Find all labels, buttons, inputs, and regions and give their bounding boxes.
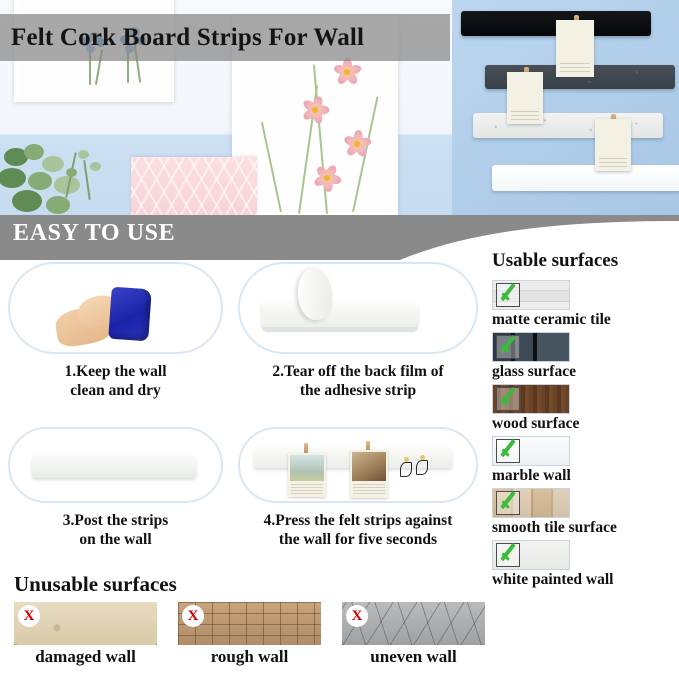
check-icon [496,335,520,359]
unusable-item-uneven-wall: X uneven wall [342,602,485,667]
swatch-white-painted-wall [492,540,570,570]
step-2-illustration [238,262,478,354]
usable-label-4: smooth tile surface [492,519,679,537]
usable-item-marble-wall: marble wall [492,436,679,485]
step-3: 3.Post the strips on the wall [8,427,230,567]
swatch-rough-wall: X [178,602,321,645]
hero-felt-strips-wall [452,0,679,215]
usable-item-white-painted-wall: white painted wall [492,540,679,589]
usable-item-wood-surface: wood surface [492,384,679,433]
swatch-matte-ceramic-tile [492,280,570,310]
unusable-item-damaged-wall: X damaged wall [14,602,157,667]
usable-label-5: white painted wall [492,571,679,589]
swatch-damaged-wall: X [14,602,157,645]
usable-surfaces-section: Usable surfaces matte ceramic tile glass… [492,250,679,625]
usable-item-smooth-tile-surface: smooth tile surface [492,488,679,537]
unusable-item-rough-wall: X rough wall [178,602,321,667]
step-3-line-2: on the wall [8,530,223,549]
swatch-wood-surface [492,384,570,414]
unusable-label-0: damaged wall [14,647,157,667]
step-4: 4.Press the felt strips against the wall… [238,427,486,567]
step-1-illustration [8,262,223,354]
pink-honeycomb-card [131,157,257,215]
unusable-surfaces-section: Unusable surfaces X damaged wall X rough… [14,572,494,676]
step-2-line-1: 2.Tear off the back film of [234,362,482,381]
usable-label-2: wood surface [492,415,679,433]
product-infographic: Felt Cork Board Strips For Wall EASY TO … [0,0,679,678]
potted-plant [0,142,114,215]
x-icon: X [182,605,204,627]
usable-surfaces-heading: Usable surfaces [492,250,679,272]
felt-strip-white [492,165,679,191]
step-4-line-1: 4.Press the felt strips against [234,511,482,530]
check-icon [496,387,520,411]
check-icon [496,491,520,515]
easy-to-use-heading: EASY TO USE [13,220,175,247]
step-3-line-1: 3.Post the strips [8,511,223,530]
x-icon: X [346,605,368,627]
step-1-line-2: clean and dry [8,381,223,400]
usable-item-matte-ceramic-tile: matte ceramic tile [492,280,679,329]
hanging-photo [556,20,594,77]
plain-felt-strip-icon [32,456,196,478]
hanging-photo [595,119,631,171]
felt-strip-light-gray [473,113,663,138]
page-title: Felt Cork Board Strips For Wall [0,24,364,52]
step-4-illustration [238,427,478,503]
check-icon [496,439,520,463]
check-icon [496,283,520,307]
unusable-surfaces-heading: Unusable surfaces [14,572,494,597]
step-2-line-2: the adhesive strip [234,381,482,400]
usable-label-3: marble wall [492,467,679,485]
steps-section: 1.Keep the wall clean and dry 2.Tear off… [0,262,487,567]
x-icon: X [18,605,40,627]
usable-label-1: glass surface [492,363,679,381]
hero-image: Felt Cork Board Strips For Wall [0,0,679,215]
unusable-label-2: uneven wall [342,647,485,667]
step-3-illustration [8,427,223,503]
step-4-line-2: the wall for five seconds [234,530,482,549]
usable-item-glass-surface: glass surface [492,332,679,381]
hand-with-cloth-icon [56,286,126,354]
check-icon [496,543,520,567]
usable-label-0: matte ceramic tile [492,311,679,329]
swatch-smooth-tile-surface [492,488,570,518]
swatch-uneven-wall: X [342,602,485,645]
swatch-glass-surface [492,332,570,362]
unusable-label-1: rough wall [178,647,321,667]
title-banner: Felt Cork Board Strips For Wall [0,14,450,61]
hanging-photo [507,72,543,124]
swatch-marble-wall [492,436,570,466]
step-1-line-1: 1.Keep the wall [8,362,223,381]
step-1: 1.Keep the wall clean and dry [8,262,230,412]
step-2: 2.Tear off the back film of the adhesive… [238,262,486,412]
